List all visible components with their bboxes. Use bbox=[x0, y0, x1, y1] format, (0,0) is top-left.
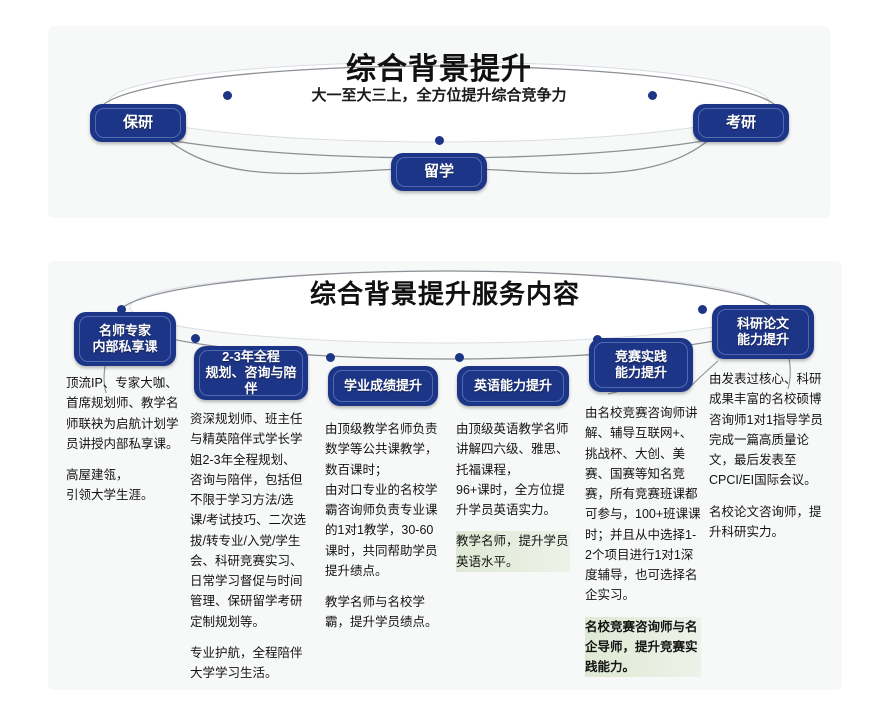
hero-subtitle: 大一至大三上，全方位提升综合竞争力 bbox=[48, 84, 830, 105]
pill-line-2: 能力提升 bbox=[615, 365, 667, 380]
hero-pill-liuxue[interactable]: 留学 bbox=[391, 153, 487, 191]
hero-panel: 综合背景提升 大一至大三上，全方位提升综合竞争力 保研 留学 考研 bbox=[48, 26, 830, 218]
detail-column-mingshi-zhuanjia: 顶流IP、专家大咖、首席规划师、教学名师联袂为启航计划学员讲授内部私享课。 高屋… bbox=[66, 373, 182, 506]
column-paragraph: 顶流IP、专家大咖、首席规划师、教学名师联袂为启航计划学员讲授内部私享课。 bbox=[66, 373, 182, 454]
column-paragraph-highlighted: 教学名师，提升学员英语水平。 bbox=[456, 531, 570, 572]
detail-pill-mingshi-zhuanjia[interactable]: 名师专家 内部私享课 bbox=[74, 312, 176, 366]
detail-column-quancheng-guihua: 资深规划师、班主任与精英陪伴式学长学姐2-3年全程规划、咨询与陪伴，包括但不限于… bbox=[190, 409, 306, 683]
column-paragraph: 由顶级教学名师负责数学等公共课教学，数百课时； 由对口专业的名校学霸咨询师负责专… bbox=[325, 419, 441, 581]
detail-title: 综合背景提升服务内容 bbox=[48, 274, 842, 311]
column-paragraph: 由顶级英语教学名师讲解四六级、雅思、托福课程， 96+课时，全方位提升学员英语实… bbox=[456, 419, 570, 520]
hero-node-dot-center bbox=[435, 136, 444, 145]
pill-line-1: 名师专家 bbox=[99, 323, 151, 338]
detail-column-yingyu-nengli: 由顶级英语教学名师讲解四六级、雅思、托福课程， 96+课时，全方位提升学员英语实… bbox=[456, 419, 570, 572]
hero-pill-liuxue-label: 留学 bbox=[418, 163, 460, 182]
column-paragraph: 专业护航，全程陪伴大学学习生活。 bbox=[190, 643, 306, 684]
pill-line-1: 2-3年全程 bbox=[222, 349, 280, 364]
detail-pill-yingyu-nengli[interactable]: 英语能力提升 bbox=[457, 366, 569, 406]
detail-pill-yingyu-nengli-label: 英语能力提升 bbox=[468, 378, 558, 394]
pill-line-2: 能力提升 bbox=[737, 332, 789, 347]
detail-column-jingsai-shijian: 由名校竞赛咨询师讲解、辅导互联网+、挑战杯、大创、美赛、国赛等知名竞赛，所有竞赛… bbox=[585, 403, 701, 677]
detail-node-dot-3 bbox=[326, 353, 335, 362]
column-paragraph: 高屋建瓴， 引领大学生涯。 bbox=[66, 465, 182, 506]
pill-line-2: 内部私享课 bbox=[92, 339, 157, 354]
pill-line-1: 科研论文 bbox=[737, 316, 789, 331]
hero-pill-kaoyan[interactable]: 考研 bbox=[693, 104, 789, 142]
hero-title: 综合背景提升 bbox=[48, 44, 830, 88]
hero-pill-kaoyan-label: 考研 bbox=[720, 114, 762, 133]
detail-node-dot-2 bbox=[191, 334, 200, 343]
detail-pill-jingsai-shijian-label: 竞赛实践 能力提升 bbox=[609, 349, 673, 382]
detail-pill-keyan-lunwen[interactable]: 科研论文 能力提升 bbox=[712, 305, 814, 359]
column-paragraph: 资深规划师、班主任与精英陪伴式学长学姐2-3年全程规划、咨询与陪伴，包括但不限于… bbox=[190, 409, 306, 632]
detail-panel: 综合背景提升服务内容 名师专家 内部私享课 顶流IP、专家大咖、首席规划师、教学… bbox=[48, 261, 842, 690]
detail-node-dot-4 bbox=[455, 353, 464, 362]
detail-pill-quancheng-guihua[interactable]: 2-3年全程 规划、咨询与陪伴 bbox=[194, 346, 308, 400]
detail-pill-xueye-chengji-label: 学业成绩提升 bbox=[338, 378, 428, 394]
detail-pill-mingshi-zhuanjia-label: 名师专家 内部私享课 bbox=[86, 323, 163, 356]
pill-line-2: 规划、咨询与陪伴 bbox=[205, 365, 296, 396]
detail-column-xueye-chengji: 由顶级教学名师负责数学等公共课教学，数百课时； 由对口专业的名校学霸咨询师负责专… bbox=[325, 419, 441, 633]
column-paragraph: 由名校竞赛咨询师讲解、辅导互联网+、挑战杯、大创、美赛、国赛等知名竞赛，所有竞赛… bbox=[585, 403, 701, 606]
pill-line-1: 竞赛实践 bbox=[615, 349, 667, 364]
detail-column-keyan-lunwen: 由发表过核心、科研成果丰富的名校硕博咨询师1对1指导学员完成一篇高质量论文，最后… bbox=[709, 369, 825, 542]
column-paragraph-highlighted: 名校竞赛咨询师与名企导师，提升竞赛实践能力。 bbox=[585, 617, 701, 678]
detail-pill-jingsai-shijian[interactable]: 竞赛实践 能力提升 bbox=[589, 338, 693, 392]
hero-pill-baoyan-label: 保研 bbox=[117, 114, 159, 133]
detail-pill-keyan-lunwen-label: 科研论文 能力提升 bbox=[731, 316, 795, 349]
column-paragraph: 教学名师与名校学霸，提升学员绩点。 bbox=[325, 592, 441, 633]
detail-pill-xueye-chengji[interactable]: 学业成绩提升 bbox=[328, 366, 438, 406]
detail-pill-quancheng-guihua-label: 2-3年全程 规划、咨询与陪伴 bbox=[194, 349, 308, 398]
hero-pill-baoyan[interactable]: 保研 bbox=[90, 104, 186, 142]
column-paragraph: 由发表过核心、科研成果丰富的名校硕博咨询师1对1指导学员完成一篇高质量论文，最后… bbox=[709, 369, 825, 491]
column-paragraph: 名校论文咨询师，提升科研实力。 bbox=[709, 502, 825, 543]
